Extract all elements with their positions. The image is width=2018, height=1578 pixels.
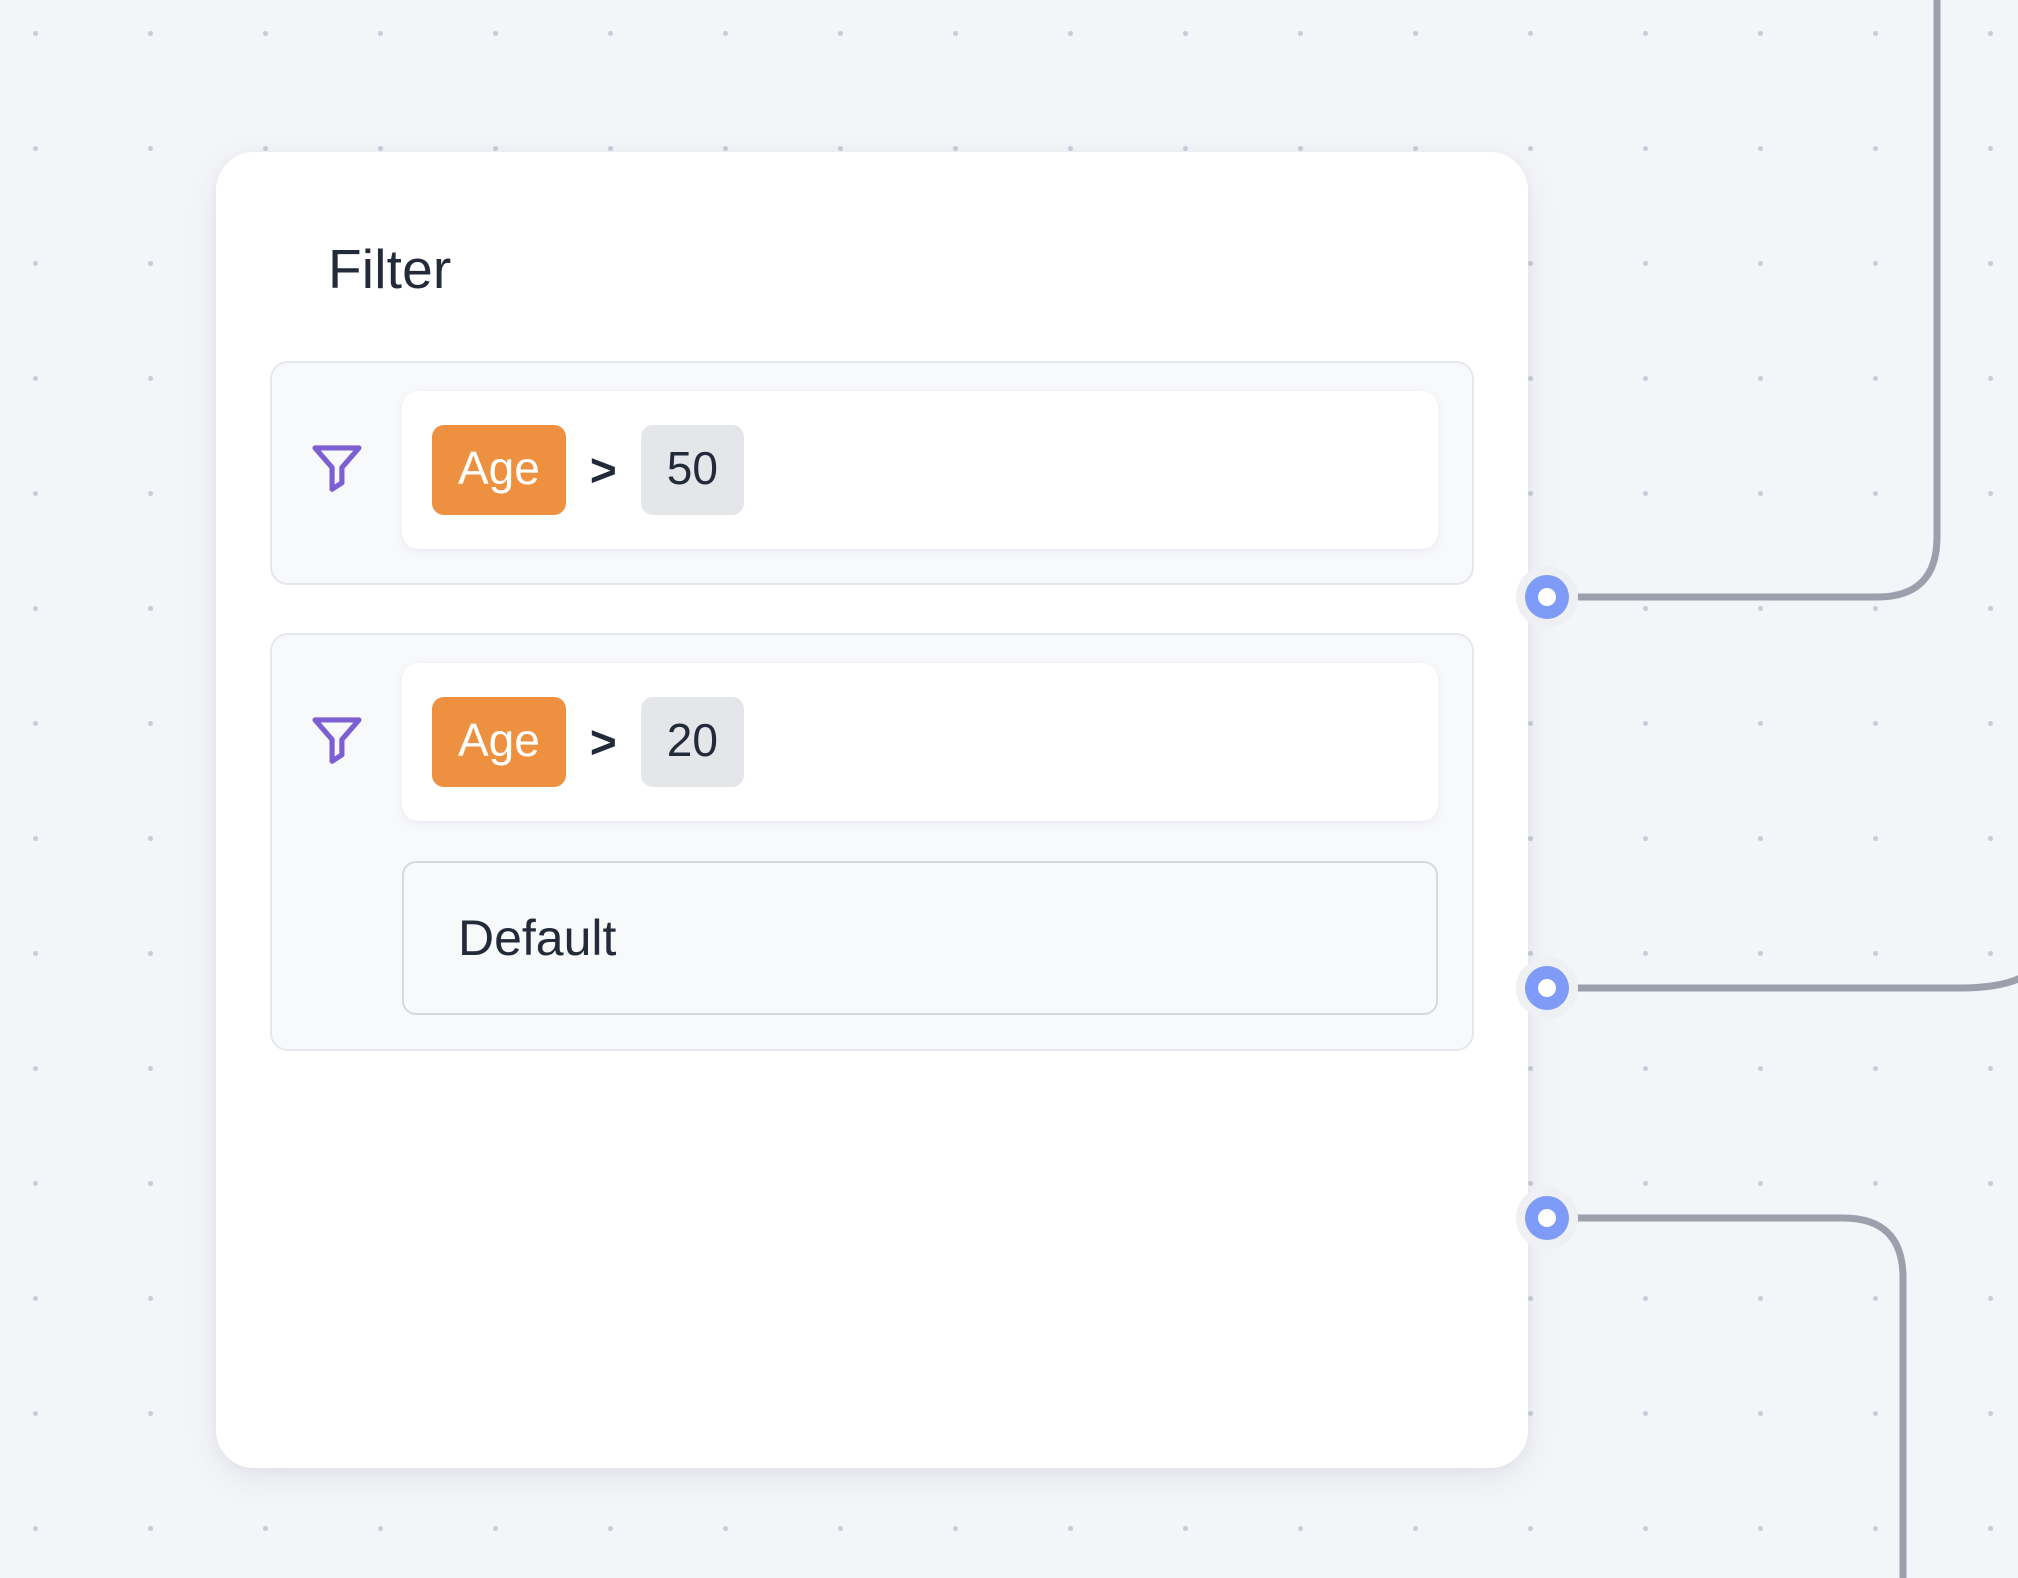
- port-ring-3: [1525, 1196, 1569, 1240]
- port-core-1: [1538, 588, 1556, 606]
- node-title: Filter: [328, 242, 1474, 297]
- filter-node-card[interactable]: Filter Age > 50: [216, 152, 1528, 1468]
- filter-group-2[interactable]: Age > 20 Default: [270, 633, 1474, 1051]
- default-branch-label: Default: [458, 913, 616, 963]
- value-chip-1[interactable]: 50: [641, 425, 744, 515]
- filter-expression-1[interactable]: Age > 50: [402, 391, 1438, 549]
- output-port-3[interactable]: [1516, 1187, 1578, 1249]
- filter-expression-2[interactable]: Age > 20: [402, 663, 1438, 821]
- port-ring-2: [1525, 966, 1569, 1010]
- port-core-2: [1538, 979, 1556, 997]
- operator-1[interactable]: >: [588, 447, 619, 493]
- field-chip-2[interactable]: Age: [432, 697, 566, 787]
- filter-group-1-row: Age > 50: [306, 391, 1438, 549]
- port-ring-1: [1525, 575, 1569, 619]
- filter-group-2-row: Age > 20: [306, 663, 1438, 821]
- port-core-3: [1538, 1209, 1556, 1227]
- operator-2[interactable]: >: [588, 719, 619, 765]
- default-branch-field[interactable]: Default: [402, 861, 1438, 1015]
- filter-groups-list: Age > 50 Age >: [270, 361, 1474, 1051]
- wire-port-2: [1578, 975, 2018, 988]
- funnel-icon: [306, 435, 368, 497]
- output-port-2[interactable]: [1516, 957, 1578, 1019]
- field-chip-1[interactable]: Age: [432, 425, 566, 515]
- output-port-1[interactable]: [1516, 566, 1578, 628]
- wire-port-1: [1578, 0, 1937, 597]
- filter-group-1[interactable]: Age > 50: [270, 361, 1474, 585]
- funnel-icon: [306, 707, 368, 769]
- wire-port-3: [1578, 1218, 1903, 1578]
- flow-canvas[interactable]: Filter Age > 50: [0, 0, 2018, 1578]
- value-chip-2[interactable]: 20: [641, 697, 744, 787]
